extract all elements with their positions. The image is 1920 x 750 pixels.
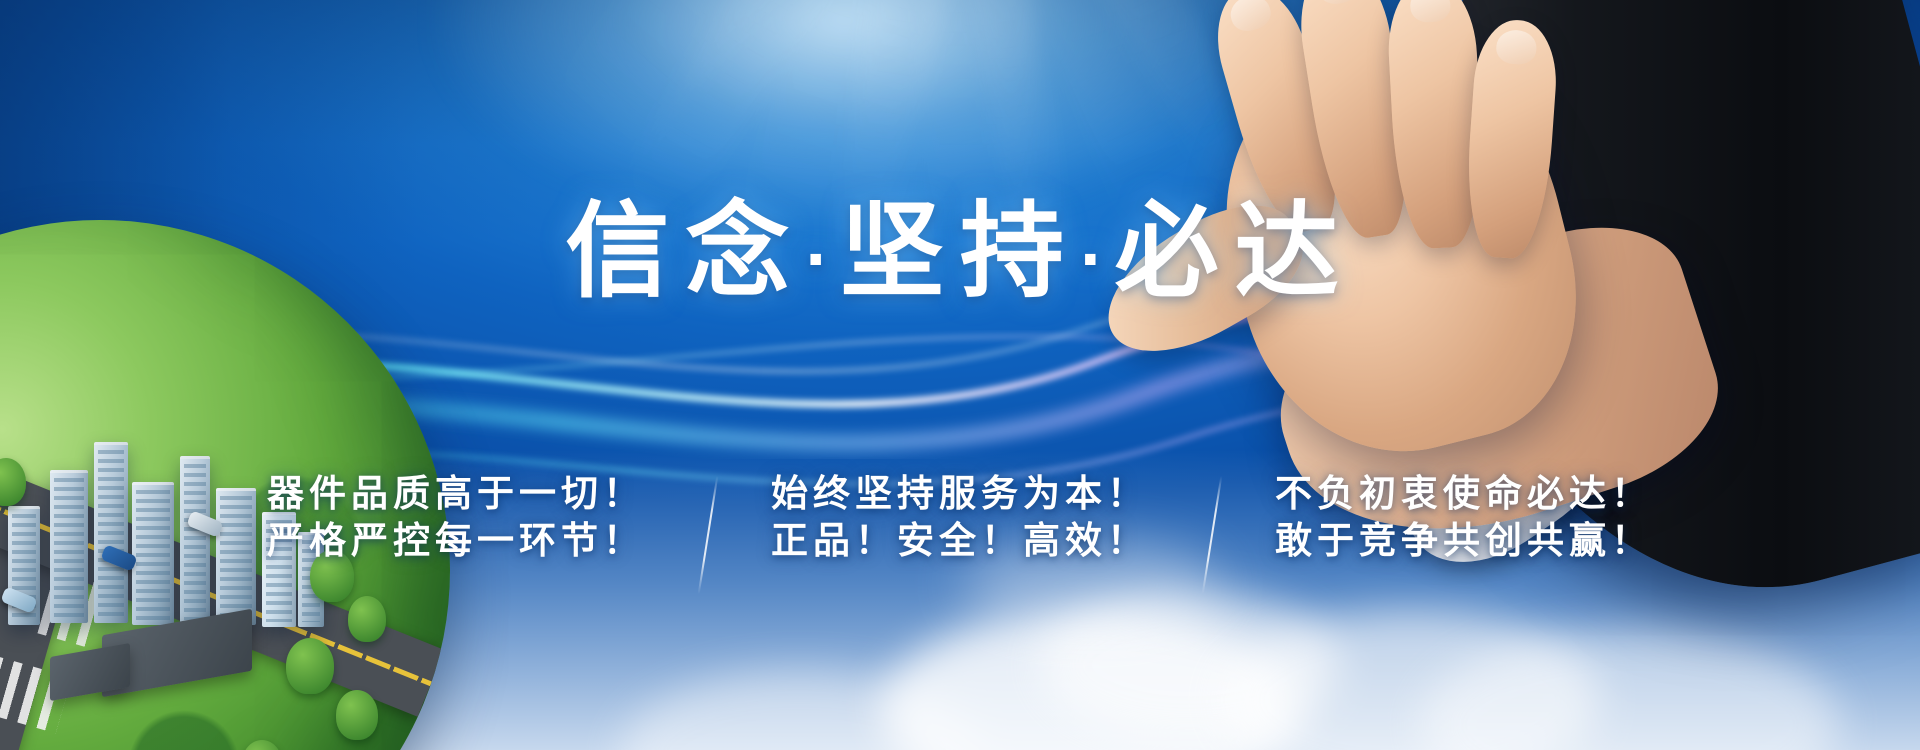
tree: [286, 638, 334, 694]
slogan-3-line-2: 敢于竞争共创共赢！: [1275, 517, 1653, 564]
headline-part-1: 信念: [565, 194, 805, 310]
slogan-row: 器件品质高于一切！ 严格严控每一环节！ 始终坚持服务为本！ 正品！安全！高效！ …: [0, 470, 1920, 594]
headline-part-3: 必达: [1115, 194, 1355, 310]
tree: [348, 596, 386, 642]
page-title: 信念·坚持·必达: [0, 196, 1920, 308]
tree: [336, 690, 378, 740]
slogan-2-line-2: 正品！安全！高效！: [771, 517, 1149, 564]
slogan-divider: [1202, 476, 1223, 594]
slogan-column-1: 器件品质高于一切！ 严格严控每一环节！: [267, 470, 669, 565]
slogan-column-2: 始终坚持服务为本！ 正品！安全！高效！: [747, 470, 1173, 565]
handshake-hand-graphic: [1100, 0, 1920, 750]
slogan-1-line-2: 严格严控每一环节！: [267, 517, 645, 564]
slogan-3-line-1: 不负初衷使命必达！: [1275, 470, 1653, 517]
slogan-divider: [698, 476, 719, 594]
slogan-column-3: 不负初衷使命必达！ 敢于竞争共创共赢！: [1251, 470, 1653, 565]
slogan-2-line-1: 始终坚持服务为本！: [771, 470, 1149, 517]
headline-separator-1: ·: [805, 218, 840, 301]
promotional-banner: 梵达电子 FANDA ELECTRONICS 信念·坚持·必达 器件品质高于一切…: [0, 0, 1920, 750]
headline-separator-2: ·: [1080, 218, 1115, 301]
headline-part-2: 坚持: [840, 194, 1080, 310]
slogan-1-line-1: 器件品质高于一切！: [267, 470, 645, 517]
